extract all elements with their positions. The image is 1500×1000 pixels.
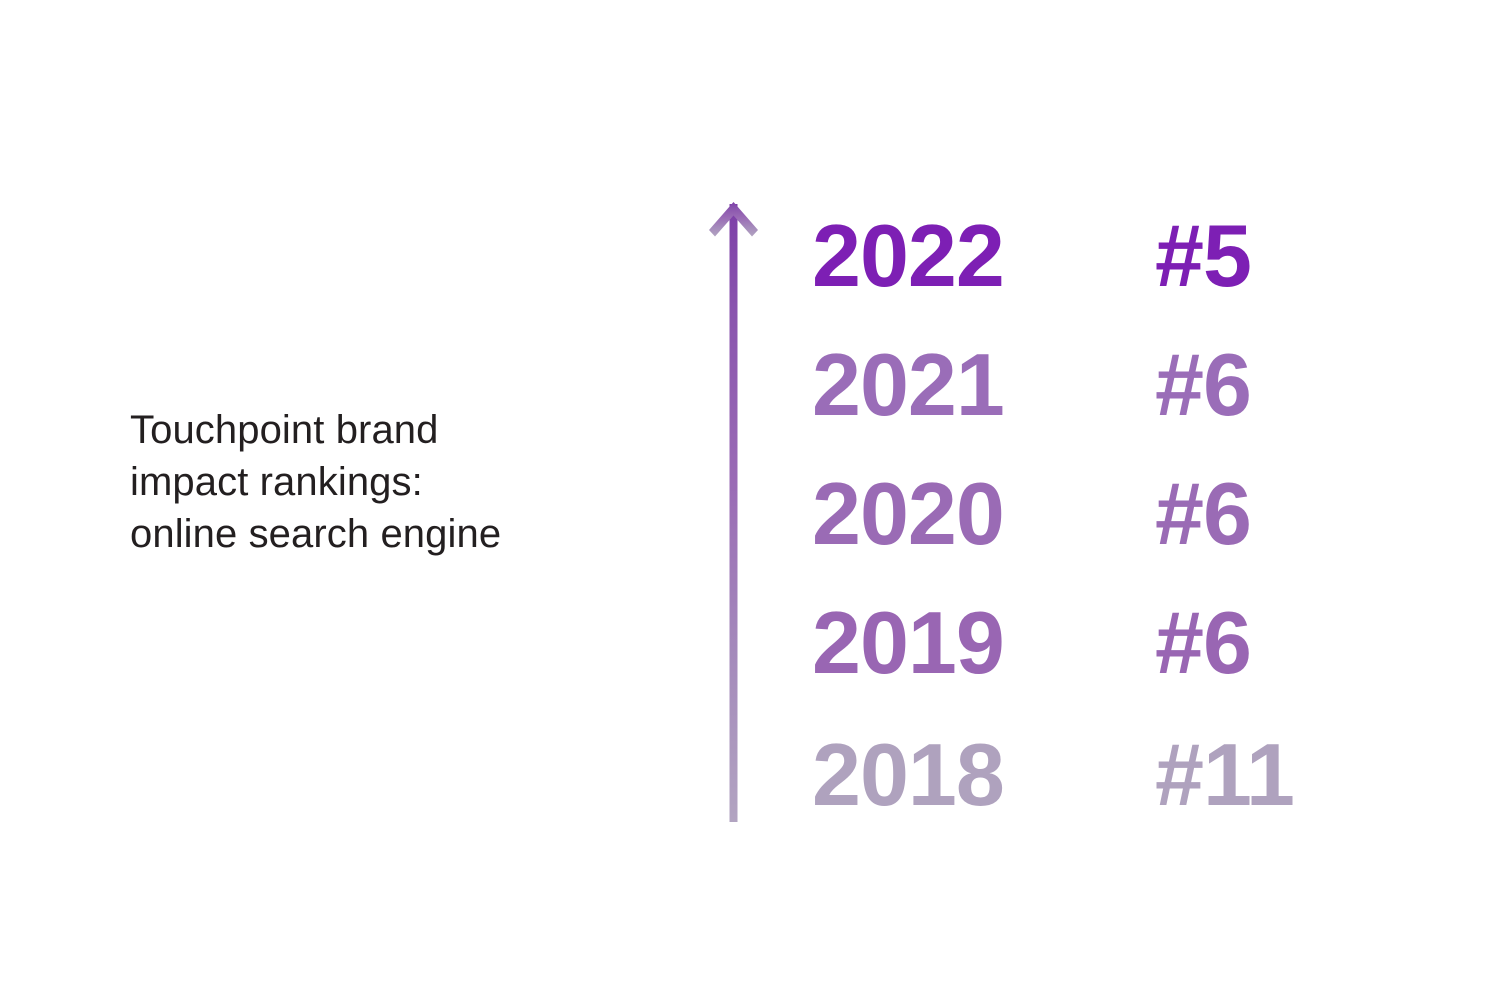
- caption-line-2: impact rankings:: [130, 456, 650, 508]
- year-label: 2020: [812, 470, 1155, 558]
- ranking-row: 2019 #6: [812, 583, 1372, 703]
- caption-block: Touchpoint brand impact rankings: online…: [130, 404, 650, 560]
- rank-value: #6: [1155, 599, 1251, 687]
- ranking-infographic: Touchpoint brand impact rankings: online…: [0, 0, 1500, 1000]
- year-label: 2019: [812, 599, 1155, 687]
- ranking-row: 2022 #5: [812, 196, 1372, 316]
- rank-value: #6: [1155, 341, 1251, 429]
- year-label: 2021: [812, 341, 1155, 429]
- rank-value: #6: [1155, 470, 1251, 558]
- year-label: 2018: [812, 731, 1155, 819]
- ranking-row: 2021 #6: [812, 325, 1372, 445]
- arrow-up-icon: [700, 196, 770, 830]
- year-label: 2022: [812, 212, 1155, 300]
- rank-value: #5: [1155, 212, 1251, 300]
- rankings-list: 2022 #5 2021 #6 2020 #6 2019 #6 2018 #11: [812, 196, 1372, 836]
- ranking-row: 2020 #6: [812, 454, 1372, 574]
- caption-line-3: online search engine: [130, 508, 650, 560]
- caption-line-1: Touchpoint brand: [130, 404, 650, 456]
- ranking-row: 2018 #11: [812, 715, 1372, 835]
- rank-value: #11: [1155, 731, 1294, 819]
